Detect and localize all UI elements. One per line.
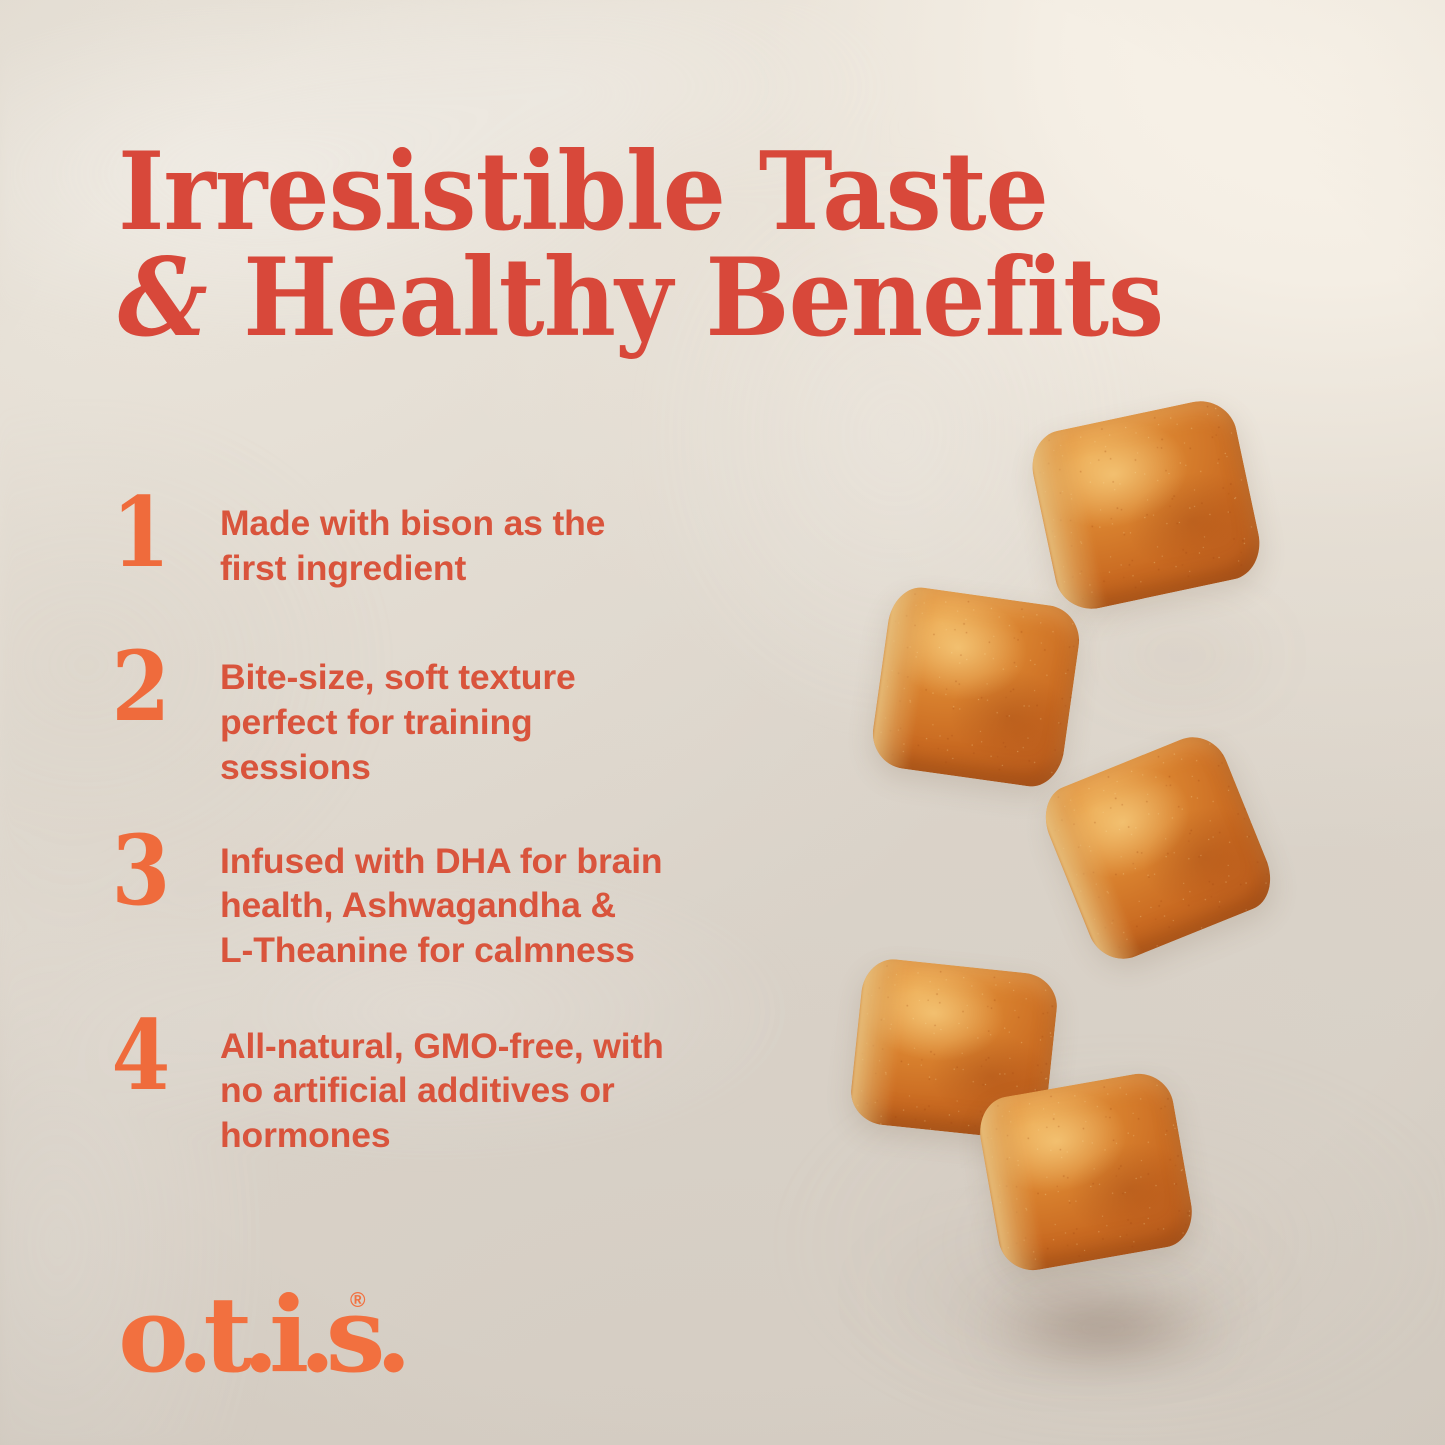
brand-logo: o.t.i.s. ®: [118, 1283, 418, 1403]
brand-wordmark: o.t.i.s.: [118, 1283, 424, 1387]
product-image-group: [0, 0, 1445, 1445]
treat-shadow-soft-upper: [1040, 610, 1320, 700]
treat-piece-bottom: [974, 1068, 1198, 1275]
promo-graphic-canvas: Irresistible Taste & Healthy Benefits 1 …: [0, 0, 1445, 1445]
treat-shadow-main: [938, 1290, 1268, 1366]
treat-piece-upper-left: [868, 584, 1083, 791]
treat-piece-top: [1025, 394, 1266, 615]
registered-trademark-icon: ®: [350, 1289, 365, 1313]
treat-piece-middle-right: [1035, 727, 1282, 970]
